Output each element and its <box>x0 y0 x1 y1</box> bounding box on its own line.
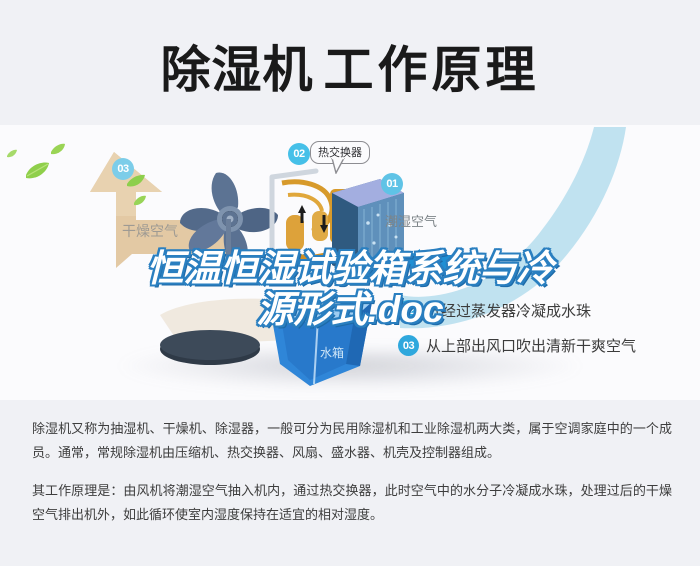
step-text-03: 从上部出风口吹出清新干爽空气 <box>426 335 636 356</box>
diagram-badge-01: 01 <box>381 173 403 195</box>
step-item-02: 02 气经过蒸发器冷凝成水珠 <box>398 293 698 328</box>
step-item-03: 03 从上部出风口吹出清新干爽空气 <box>398 328 698 363</box>
title-part-principle: 工作原理 <box>324 42 540 98</box>
article-paragraph-2: 其工作原理是：由风机将潮湿空气抽入机内，通过热交换器，此时空气中的水分子冷凝成水… <box>32 479 672 527</box>
step-badge-02: 02 <box>398 300 419 321</box>
label-dry-air: 干燥空气 <box>122 221 178 241</box>
callout-tail-icon <box>331 158 345 174</box>
title-text: 除湿机工作原理 <box>161 45 540 95</box>
label-humid-air: 潮湿空气 <box>385 211 437 230</box>
diagram-badge-02: 02 <box>288 143 310 165</box>
air-inlet-arrow-icon <box>398 249 458 275</box>
leaf-icon <box>133 195 147 207</box>
dehumidifier-principle-diagram: 03 02 01 热交换器 干燥空气 潮湿空气 水箱 02 气经过蒸发器冷凝成水… <box>0 125 700 400</box>
leaf-icon <box>6 149 18 159</box>
step-list: 02 气经过蒸发器冷凝成水珠 03 从上部出风口吹出清新干爽空气 <box>398 293 698 363</box>
step-badge-03: 03 <box>398 335 419 356</box>
page-title: 除湿机工作原理 <box>0 30 700 110</box>
step-text-02: 气经过蒸发器冷凝成水珠 <box>426 300 591 321</box>
leaf-icon <box>24 161 50 181</box>
title-part-product: 除湿机 <box>161 42 314 98</box>
article-body: 除湿机又称为抽湿机、干燥机、除湿器，一般可分为民用除湿机和工业除湿机两大类，属于… <box>32 417 672 541</box>
article-paragraph-1: 除湿机又称为抽湿机、干燥机、除湿器，一般可分为民用除湿机和工业除湿机两大类，属于… <box>32 417 672 465</box>
label-water-tank: 水箱 <box>320 344 344 361</box>
leaf-icon <box>50 143 66 156</box>
diagram-badge-03: 03 <box>112 158 134 180</box>
